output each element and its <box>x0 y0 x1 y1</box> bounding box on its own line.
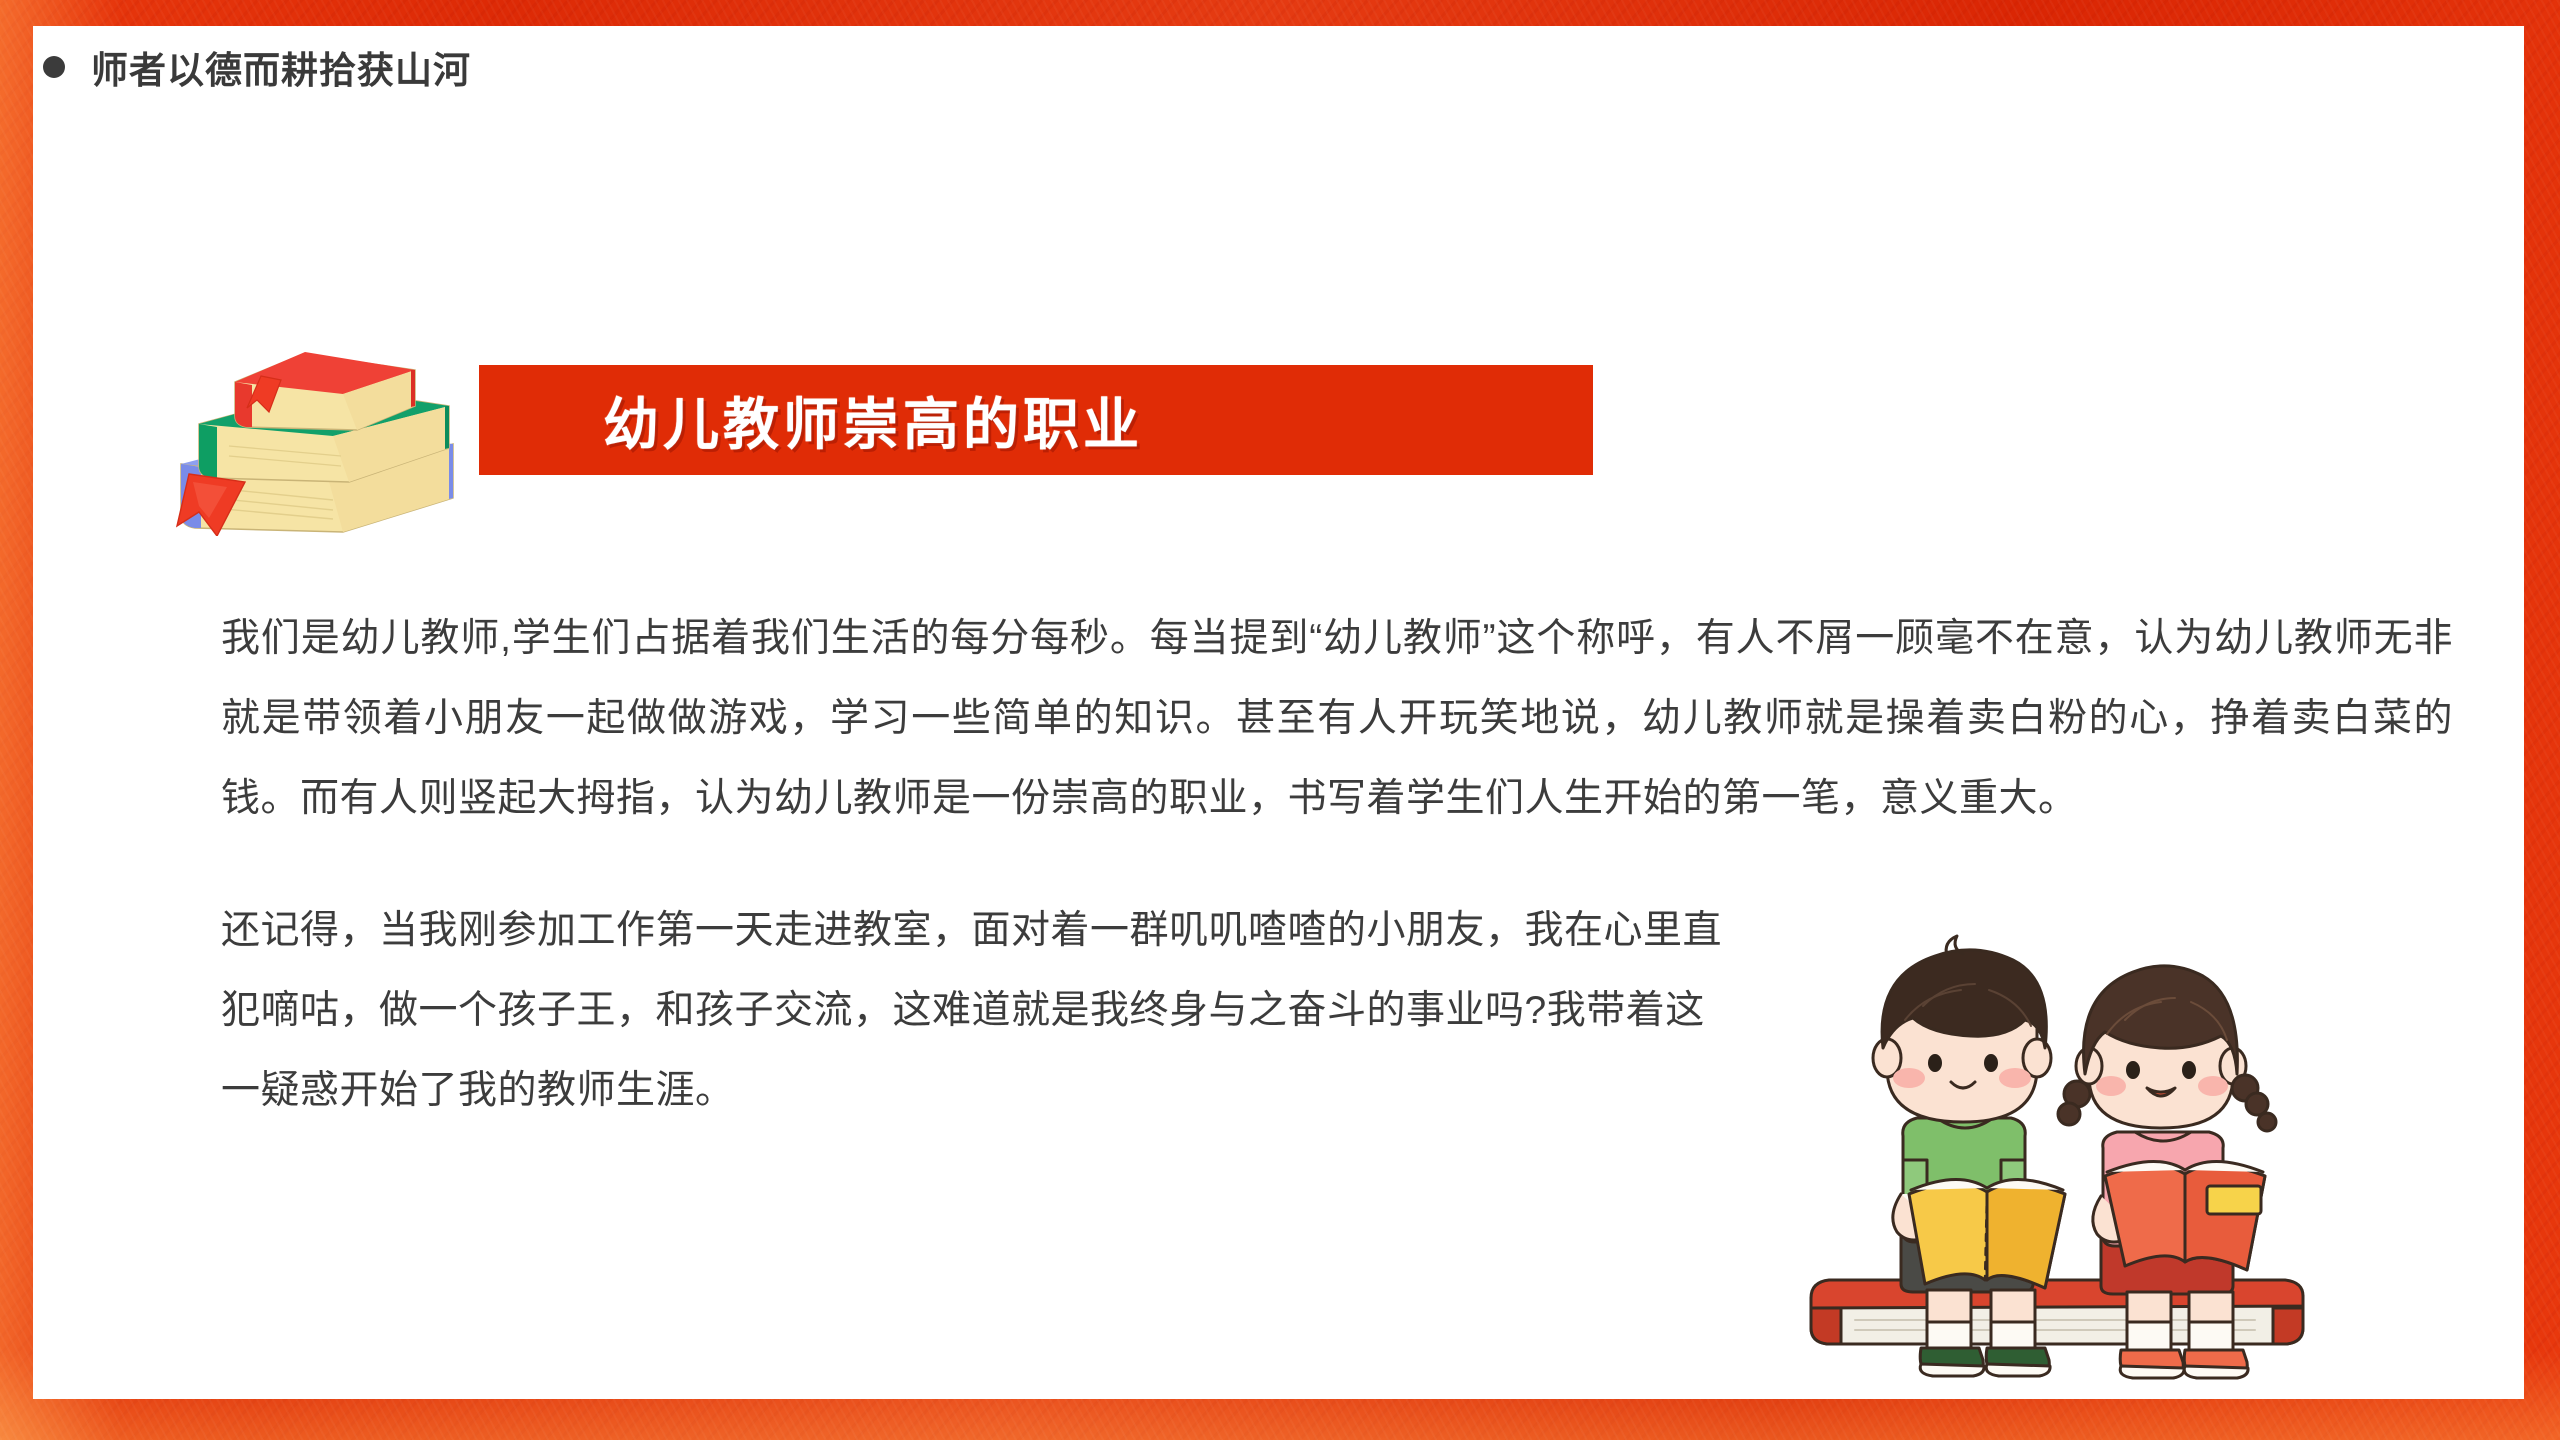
body-paragraph-1: 我们是幼儿教师,学生们占据着我们生活的每分每秒。每当提到“幼儿教师”这个称呼，有… <box>221 599 2453 839</box>
section-title-group: 幼儿教师崇高的职业 <box>153 336 1473 526</box>
slide-root: 师者以德而耕拾获山河 <box>0 0 2560 1440</box>
slide-canvas: 师者以德而耕拾获山河 <box>33 26 2524 1399</box>
bullet-dot-icon <box>43 56 65 78</box>
section-title-text: 幼儿教师崇高的职业 <box>603 380 1143 461</box>
body-paragraph-2: 还记得，当我刚参加工作第一天走进教室，面对着一群叽叽喳喳的小朋友，我在心里直犯嘀… <box>221 891 1741 1131</box>
stacked-books-icon <box>153 336 483 536</box>
slide-header: 师者以德而耕拾获山河 <box>43 40 471 94</box>
children-reading-icon <box>1775 898 2335 1398</box>
header-title-text: 师者以德而耕拾获山河 <box>91 40 471 94</box>
section-title-banner: 幼儿教师崇高的职业 <box>479 365 1593 475</box>
